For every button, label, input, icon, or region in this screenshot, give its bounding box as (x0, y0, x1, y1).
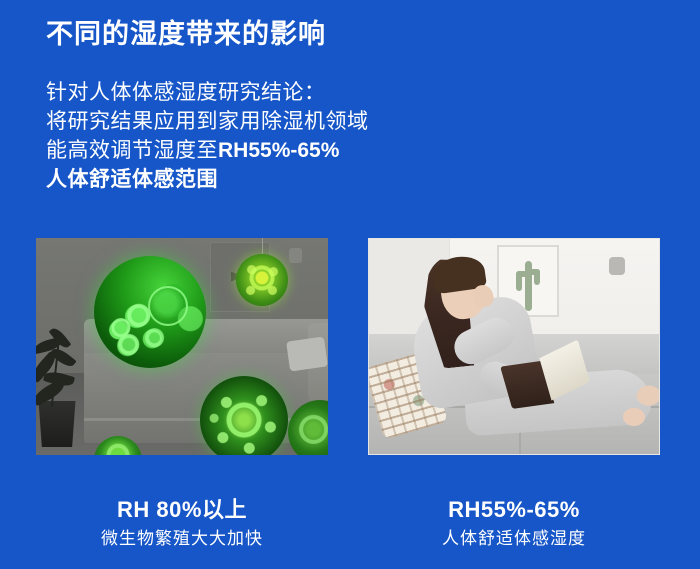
microbe-cluster-icon (200, 376, 288, 455)
caption-subtitle: 人体舒适体感湿度 (368, 526, 660, 552)
intro-line-3: 能高效调节湿度至RH55%-65% (46, 136, 526, 165)
person-foot (623, 408, 645, 426)
wall-switch-icon (609, 257, 625, 275)
microbe-cluster-icon (148, 286, 188, 326)
intro-line-3-highlight: RH55%-65% (218, 139, 339, 162)
page-title: 不同的湿度带来的影响 (46, 18, 326, 50)
intro-paragraph: 针对人体体感湿度研究结论： 将研究结果应用到家用除湿机领域 能高效调节湿度至RH… (46, 78, 526, 194)
intro-line-3-text: 能高效调节湿度至 (46, 139, 218, 162)
intro-line-2: 将研究结果应用到家用除湿机领域 (46, 107, 526, 136)
microbe-cluster-icon (236, 254, 288, 306)
caption-title: RH55%-65% (368, 496, 660, 524)
caption-comfort-humidity: RH55%-65% 人体舒适体感湿度 (368, 496, 660, 552)
promo-slide: 不同的湿度带来的影响 针对人体体感湿度研究结论： 将研究结果应用到家用除湿机领域… (0, 0, 700, 569)
caption-title: RH 80%以上 (36, 496, 328, 524)
dim-room-scene (36, 238, 328, 455)
wall-switch-icon (289, 248, 302, 263)
photo-comfort-humidity (368, 238, 660, 455)
intro-line-4: 人体舒适体感范围 (46, 165, 526, 194)
caption-high-humidity: RH 80%以上 微生物繁殖大大加快 (36, 496, 328, 552)
plant-pot (36, 401, 78, 447)
potted-plant (36, 327, 92, 447)
intro-line-1: 针对人体体感湿度研究结论： (46, 78, 526, 107)
bright-room-scene (369, 239, 659, 454)
photo-high-humidity (36, 238, 328, 455)
sofa-cushion (286, 337, 328, 372)
caption-subtitle: 微生物繁殖大大加快 (36, 526, 328, 552)
